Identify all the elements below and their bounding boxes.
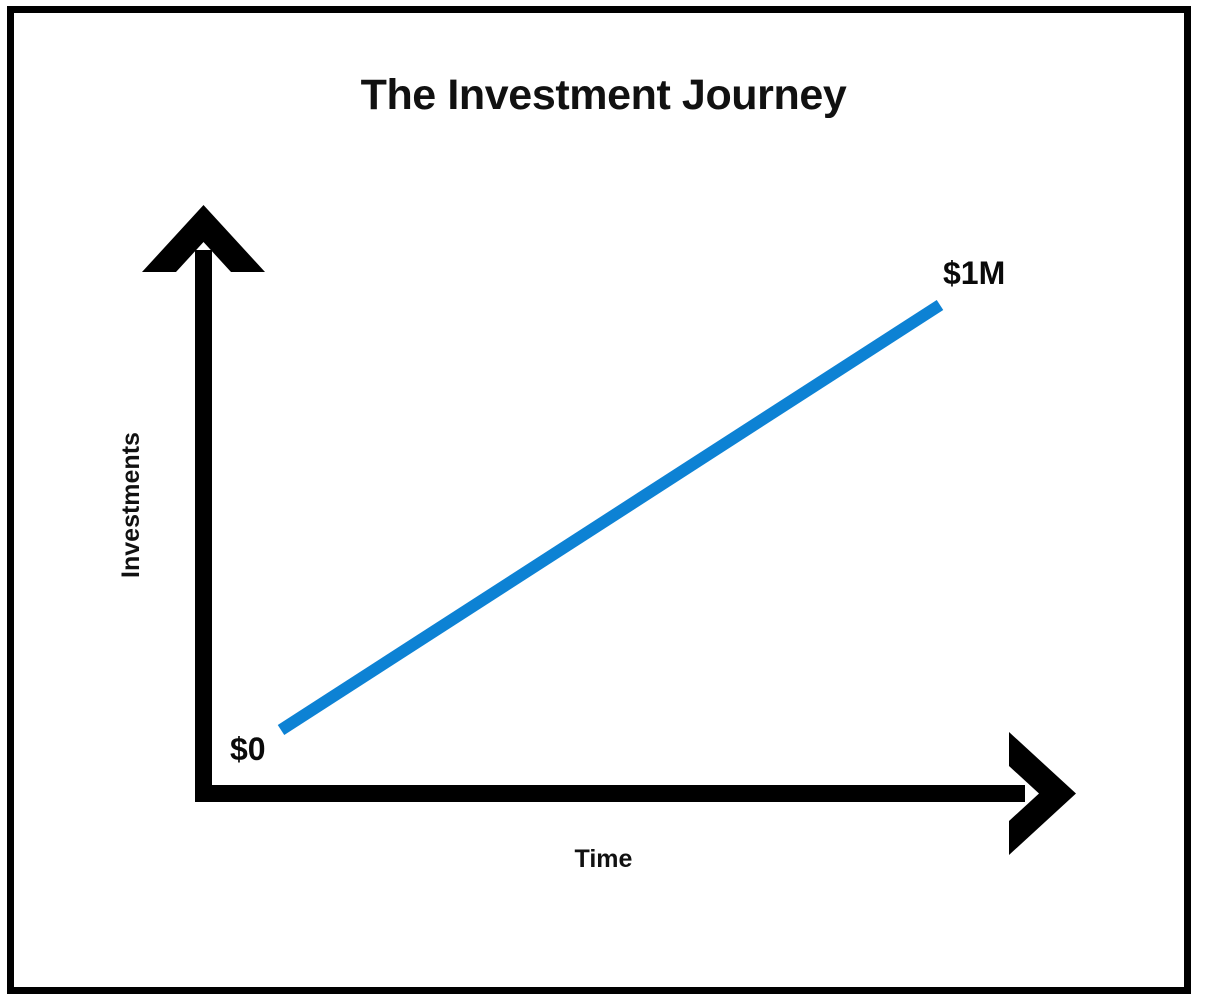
figure-canvas: The Investment Journey Investments Time … (0, 0, 1207, 1008)
start-value-label: $0 (230, 731, 266, 768)
x-axis-line (195, 785, 1025, 802)
y-axis-label: Investments (117, 375, 146, 635)
chart-title: The Investment Journey (0, 71, 1207, 120)
investment-trend-line (281, 305, 940, 730)
y-axis-line (195, 250, 212, 802)
x-axis-label: Time (0, 845, 1207, 874)
end-value-label: $1M (943, 255, 1005, 292)
